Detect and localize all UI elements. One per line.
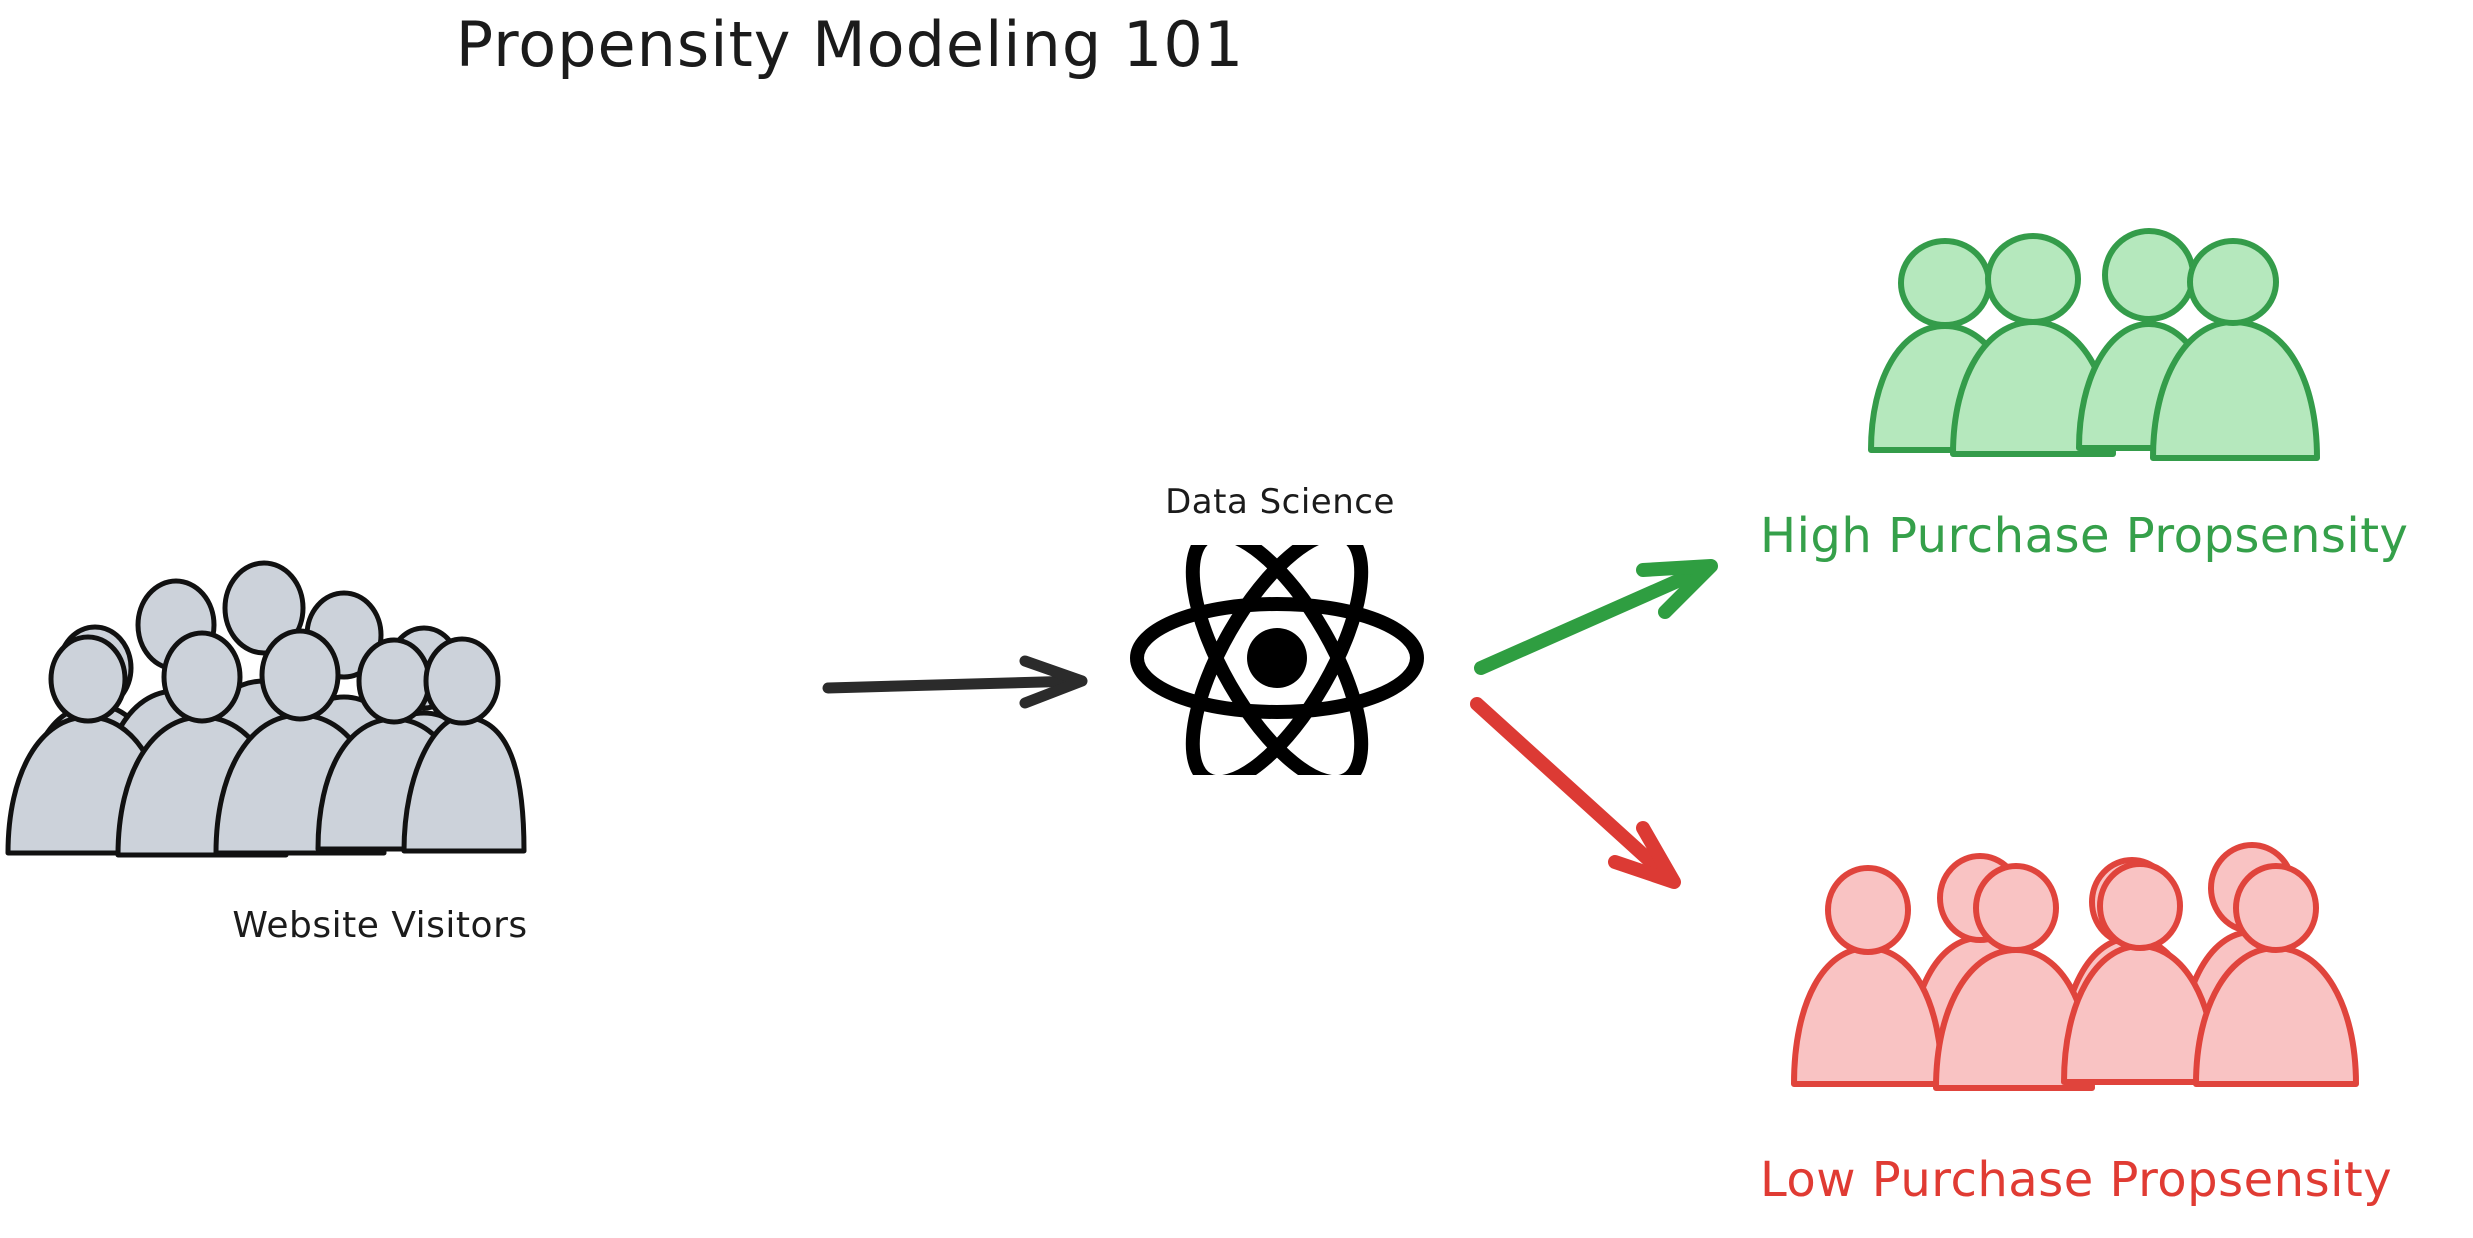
- label-high-propensity: High Purchase Propsensity: [1760, 508, 2408, 564]
- label-website-visitors: Website Visitors: [0, 905, 760, 946]
- diagram-canvas: Propensity Modeling 101: [0, 0, 2473, 1238]
- crowd-icon-website-visitors: [0, 505, 560, 865]
- crowd-icon-low-propensity: [1780, 780, 2420, 1100]
- page-title: Propensity Modeling 101: [0, 8, 1700, 81]
- arrow-down-right-icon: [1455, 690, 1735, 890]
- atom-nucleus: [1247, 628, 1307, 688]
- arrow-right-icon: [820, 655, 1140, 775]
- person-red-front-1: [1794, 868, 1942, 1084]
- crowd-icon-high-propensity: [1865, 210, 2365, 480]
- atom-icon: [1125, 545, 1445, 775]
- label-low-propensity: Low Purchase Propsensity: [1760, 1152, 2392, 1208]
- label-data-science: Data Science: [1050, 482, 1510, 522]
